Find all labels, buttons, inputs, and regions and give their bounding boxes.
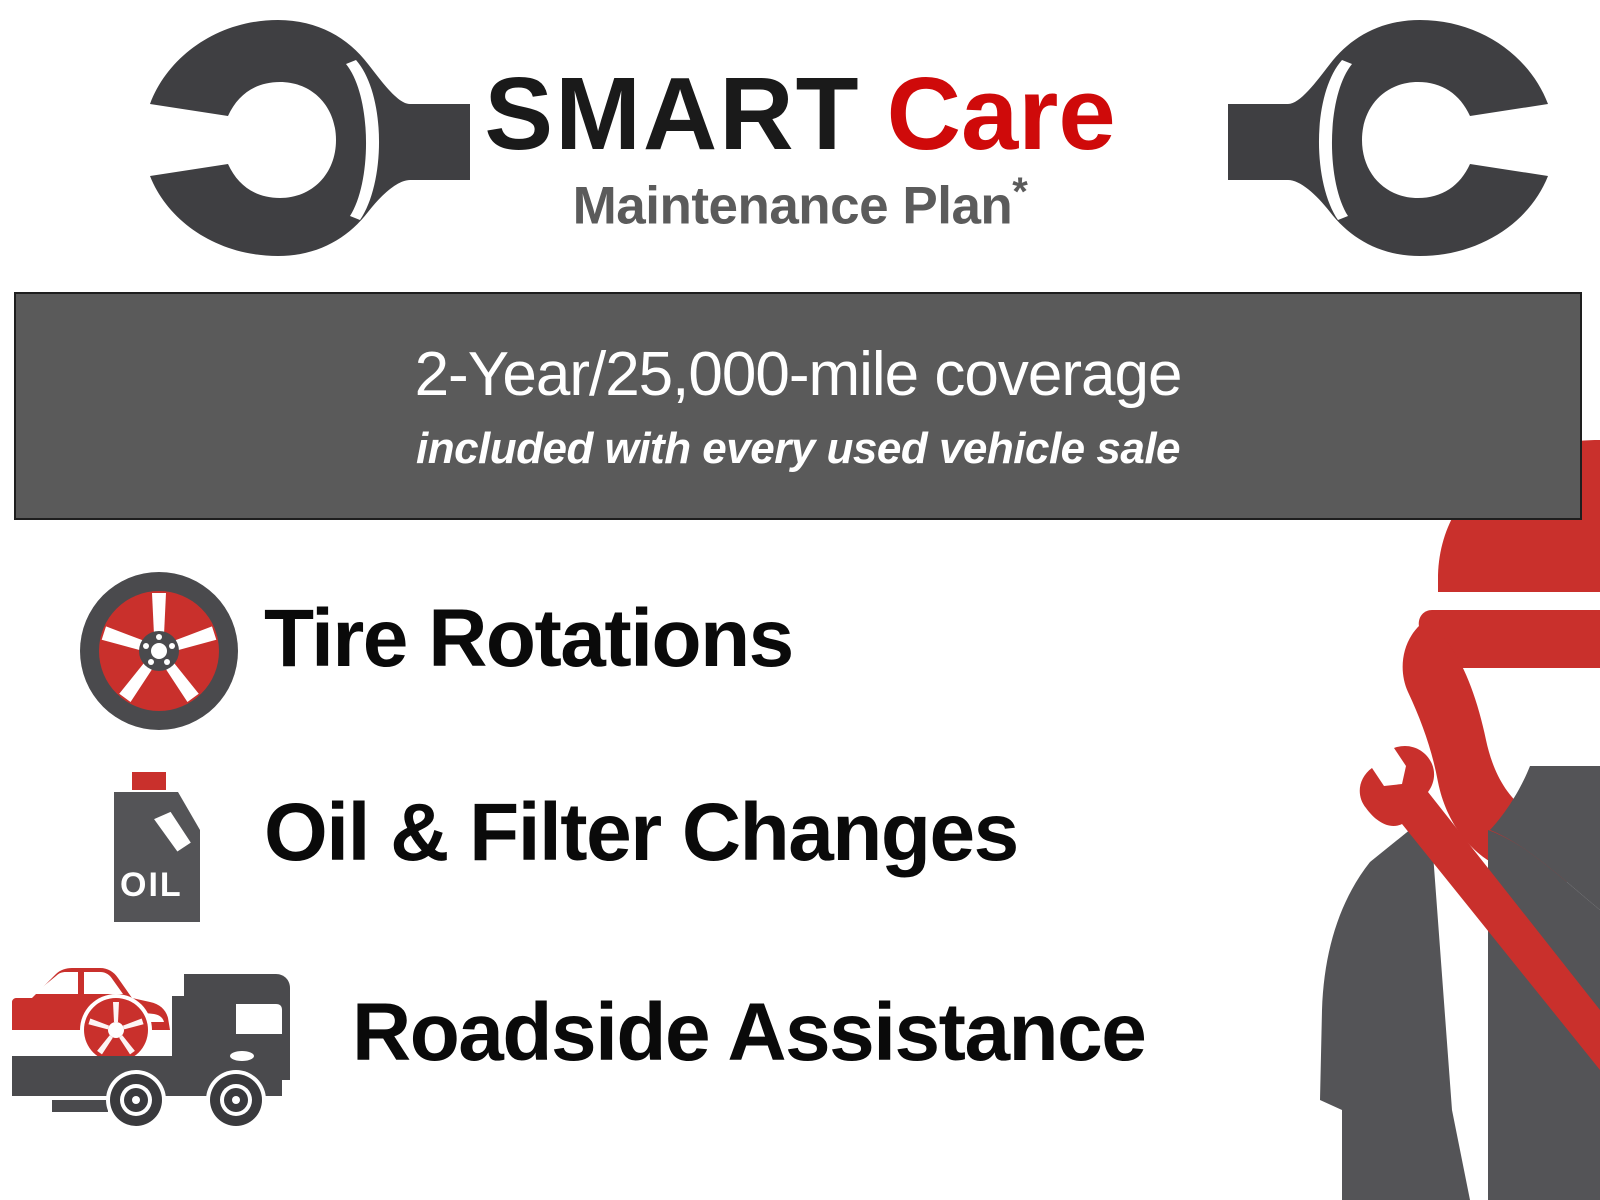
tire-wheel-icon [78, 570, 240, 732]
feature-label-tire: Tire Rotations [264, 592, 793, 686]
tagline-asterisk: * [1012, 170, 1027, 214]
oil-bottle-icon: OIL [100, 766, 218, 922]
coverage-banner: 2-Year/25,000-mile coverage included wit… [14, 292, 1582, 520]
brand-name: SMARTCare [0, 62, 1600, 165]
mechanic-with-wrench-icon [1170, 410, 1600, 1200]
smart-care-flyer: SMARTCare Maintenance Plan* [0, 0, 1600, 1200]
feature-label-road: Roadside Assistance [352, 986, 1145, 1080]
banner-headline: 2-Year/25,000-mile coverage [415, 339, 1182, 410]
banner-subline: included with every used vehicle sale [416, 424, 1180, 474]
tow-truck-icon [4, 960, 314, 1130]
logo-text: SMARTCare Maintenance Plan* [0, 62, 1600, 234]
brand-tagline: Maintenance Plan* [0, 171, 1600, 234]
oil-bottle-label: OIL [120, 866, 183, 904]
brand-name-primary: SMART [484, 56, 860, 171]
brand-tagline-text: Maintenance Plan [573, 177, 1013, 236]
logo-block: SMARTCare Maintenance Plan* [0, 0, 1600, 278]
brand-name-secondary: Care [887, 56, 1116, 171]
feature-label-oil: Oil & Filter Changes [264, 786, 1018, 880]
